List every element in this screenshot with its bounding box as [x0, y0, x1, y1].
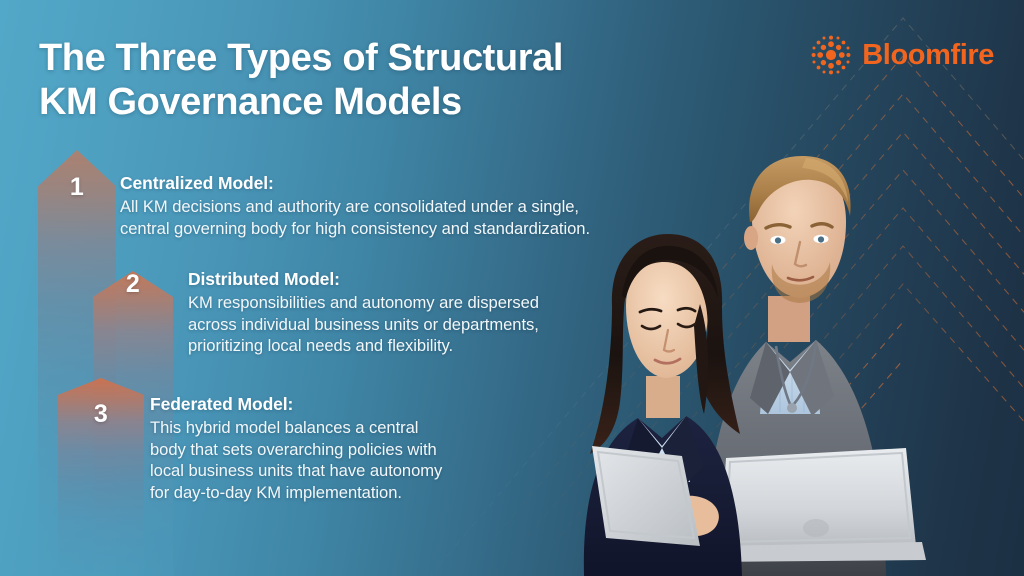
model-heading-1: Centralized Model: [120, 172, 800, 195]
bloomfire-burst-icon [809, 33, 853, 77]
step-number-2: 2 [93, 272, 173, 297]
model-item-1: Centralized Model: All KM decisions and … [120, 172, 800, 239]
brand-logo[interactable]: Bloomfire [809, 33, 994, 77]
step-number-1: 1 [38, 175, 116, 200]
model-item-3: Federated Model: This hybrid model balan… [150, 393, 570, 503]
model-body-2: KM responsibilities and autonomy are dis… [188, 292, 688, 357]
model-body-3: This hybrid model balances a central bod… [150, 417, 570, 503]
model-heading-2: Distributed Model: [188, 268, 688, 291]
infographic-canvas: 1 2 3 [0, 0, 1024, 576]
tablet [592, 446, 700, 546]
model-heading-3: Federated Model: [150, 393, 570, 416]
model-item-2: Distributed Model: KM responsibilities a… [188, 268, 688, 357]
brand-wordmark: Bloomfire [862, 41, 994, 70]
page-title: The Three Types of Structural KM Governa… [39, 36, 739, 125]
laptop [710, 448, 926, 562]
step-number-3: 3 [58, 402, 144, 427]
model-body-1: All KM decisions and authority are conso… [120, 196, 800, 239]
